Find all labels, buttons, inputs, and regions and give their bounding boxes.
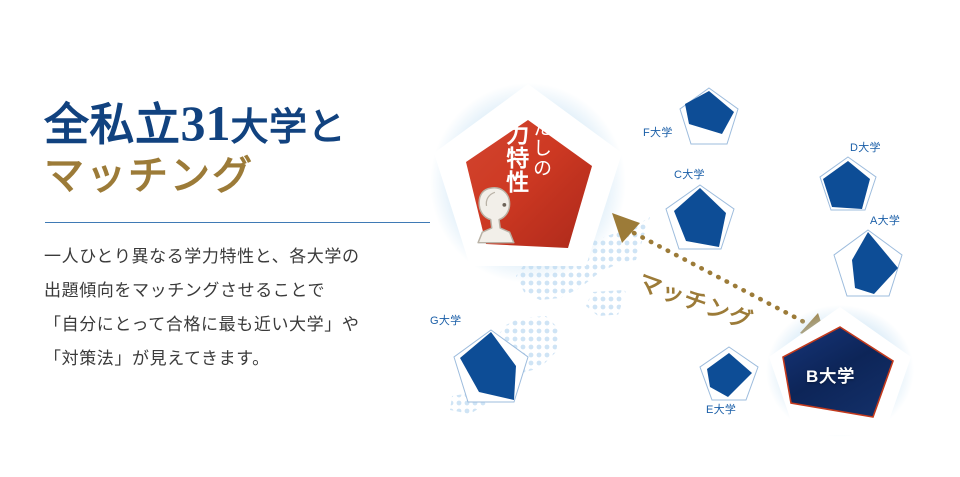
headline-divider bbox=[45, 222, 430, 223]
badge-vertical-text-right: わたしの bbox=[530, 98, 551, 194]
university-card-a[interactable]: A大学 bbox=[832, 228, 904, 300]
body-copy-line-1: 一人ひとり異なる学力特性と、各大学の bbox=[44, 240, 444, 274]
university-label-d: D大学 bbox=[850, 139, 881, 155]
headline: 全私立31大学と マッチング bbox=[44, 98, 464, 196]
radar-chart-g bbox=[452, 328, 530, 406]
university-card-c[interactable]: C大学 bbox=[664, 183, 736, 253]
headline-university-count: 31 bbox=[181, 95, 231, 151]
badge-vertical-text-left: 学力特性 bbox=[502, 98, 528, 194]
university-label-a: A大学 bbox=[870, 212, 900, 228]
badge-vertical-text: わたしの 学力特性 bbox=[502, 98, 551, 194]
body-copy-line-2: 出題傾向をマッチングさせることで bbox=[44, 274, 444, 308]
radar-chart-d bbox=[818, 155, 878, 213]
body-copy-line-4: 「対策法」が見えてきます。 bbox=[44, 342, 444, 376]
university-label-f: F大学 bbox=[643, 124, 673, 140]
university-label-e: E大学 bbox=[706, 401, 736, 417]
body-copy: 一人ひとり異なる学力特性と、各大学の 出題傾向をマッチングさせることで 「自分に… bbox=[44, 240, 444, 376]
headline-text-prefix: 全私立 bbox=[44, 100, 181, 150]
headline-line-1: 全私立31大学と bbox=[44, 98, 464, 148]
radar-chart-f bbox=[678, 86, 740, 148]
hero-banner: 全私立31大学と マッチング 一人ひとり異なる学力特性と、各大学の 出題傾向をマ… bbox=[0, 0, 960, 477]
radar-chart-c bbox=[664, 183, 736, 253]
university-label-b: B大学 bbox=[806, 362, 855, 387]
body-copy-line-3: 「自分にとって合格に最も近い大学」や bbox=[44, 308, 444, 342]
university-card-d[interactable]: D大学 bbox=[818, 155, 878, 213]
university-card-g[interactable]: G大学 bbox=[452, 328, 530, 406]
headline-line-2: マッチング bbox=[44, 156, 464, 196]
university-label-g: G大学 bbox=[430, 312, 461, 328]
headline-text-suffix: 大学と bbox=[231, 107, 347, 149]
university-label-c: C大学 bbox=[674, 166, 705, 182]
radar-chart-a bbox=[832, 228, 904, 300]
university-card-e[interactable]: E大学 bbox=[698, 345, 760, 403]
matching-arrowhead-left bbox=[612, 213, 640, 243]
radar-chart-e bbox=[698, 345, 760, 403]
university-card-f[interactable]: F大学 bbox=[678, 86, 740, 148]
